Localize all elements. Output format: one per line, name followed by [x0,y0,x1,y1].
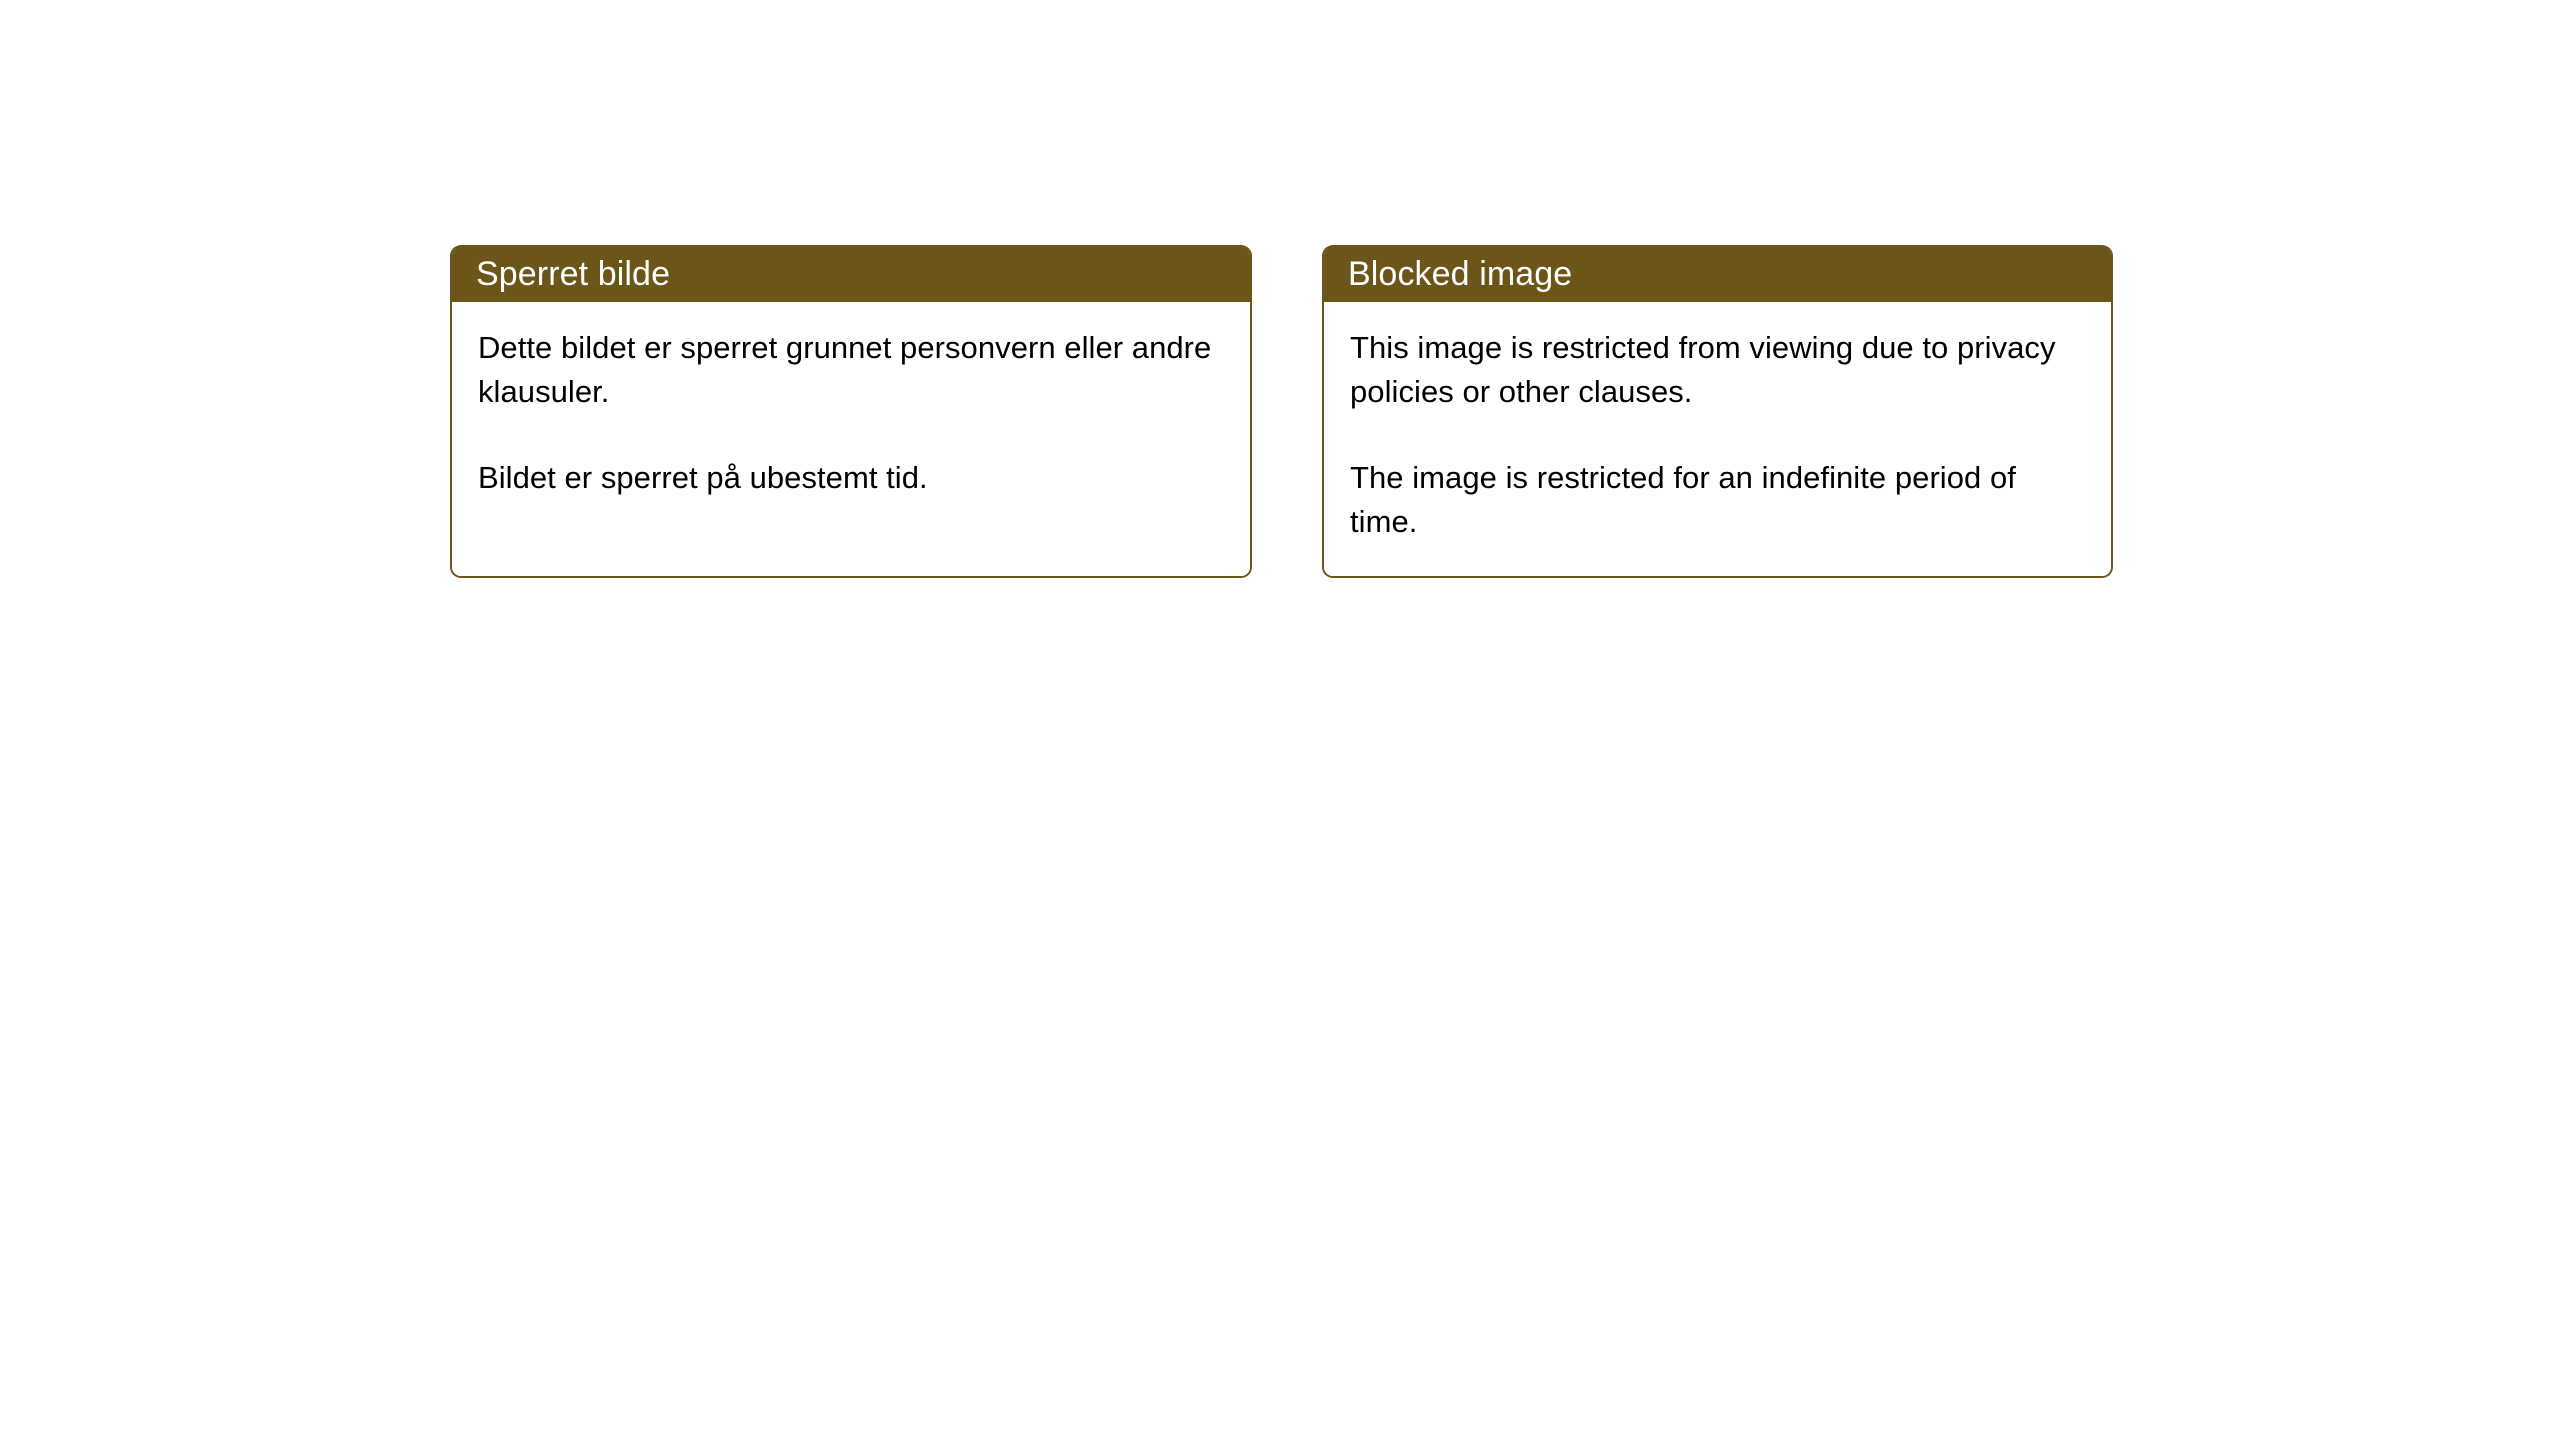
card-body-english: This image is restricted from viewing du… [1324,302,2111,576]
card-paragraph-reason-english: This image is restricted from viewing du… [1350,326,2085,414]
blocked-image-card-norwegian: Sperret bilde Dette bildet er sperret gr… [450,245,1252,578]
card-header-english: Blocked image [1322,245,2113,302]
blocked-image-notice-group: Sperret bilde Dette bildet er sperret gr… [450,245,2113,578]
card-paragraph-duration-norwegian: Bildet er sperret på ubestemt tid. [478,456,1224,500]
card-title-norwegian: Sperret bilde [476,257,670,291]
card-paragraph-duration-english: The image is restricted for an indefinit… [1350,456,2085,544]
card-paragraph-reason-norwegian: Dette bildet er sperret grunnet personve… [478,326,1224,414]
card-title-english: Blocked image [1348,257,1572,291]
blocked-image-card-english: Blocked image This image is restricted f… [1322,245,2113,578]
card-header-norwegian: Sperret bilde [450,245,1252,302]
card-body-norwegian: Dette bildet er sperret grunnet personve… [452,302,1250,576]
